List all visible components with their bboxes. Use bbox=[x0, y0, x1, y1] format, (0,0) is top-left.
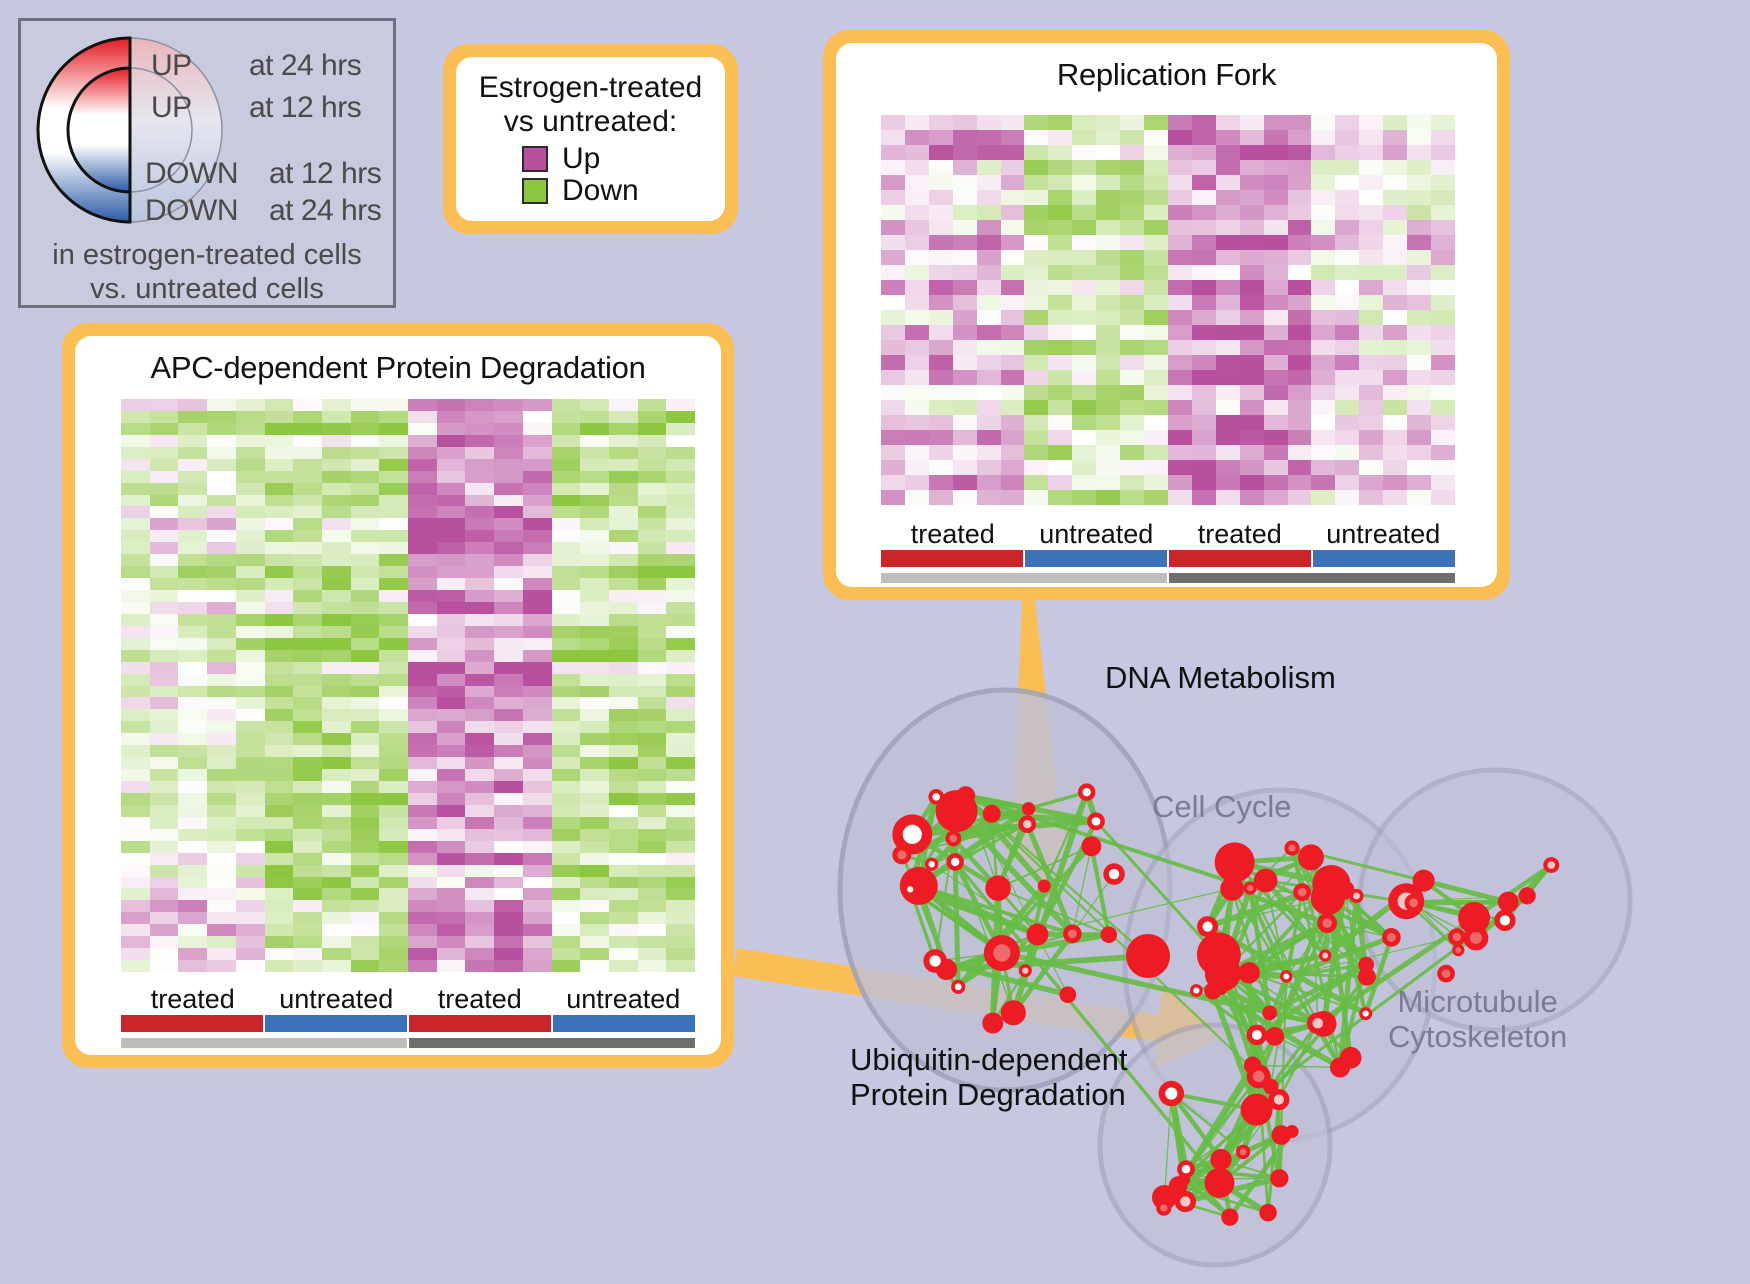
heat-cell bbox=[437, 614, 466, 626]
heat-cell bbox=[666, 733, 695, 745]
heat-cell bbox=[150, 447, 179, 459]
heat-cell bbox=[207, 614, 236, 626]
network-node[interactable] bbox=[1027, 924, 1049, 946]
heat-cell bbox=[1359, 205, 1383, 220]
heat-cell bbox=[580, 411, 609, 423]
heat-cell bbox=[523, 483, 552, 495]
heat-cell bbox=[236, 662, 265, 674]
heat-cell bbox=[638, 614, 667, 626]
heat-cell bbox=[881, 400, 905, 415]
heat-cell bbox=[150, 554, 179, 566]
heat-cell bbox=[379, 399, 408, 411]
heat-cell bbox=[379, 948, 408, 960]
heat-cell bbox=[523, 399, 552, 411]
heat-cell bbox=[1024, 235, 1048, 250]
heat-cell bbox=[437, 459, 466, 471]
heat-cell bbox=[1096, 460, 1120, 475]
heat-cell bbox=[905, 130, 929, 145]
heat-cell bbox=[1048, 460, 1072, 475]
heat-cell bbox=[609, 888, 638, 900]
heat-cell bbox=[236, 435, 265, 447]
heat-cell bbox=[1359, 265, 1383, 280]
heat-cell bbox=[1192, 340, 1216, 355]
heat-cell bbox=[1216, 265, 1240, 280]
treatment-bar-segment bbox=[881, 550, 1023, 567]
heat-cell bbox=[1192, 490, 1216, 505]
network-node[interactable] bbox=[1265, 1027, 1284, 1046]
heat-cell bbox=[236, 757, 265, 769]
heat-cell bbox=[609, 912, 638, 924]
heat-cell bbox=[121, 912, 150, 924]
heat-cell bbox=[150, 936, 179, 948]
heat-cell bbox=[379, 686, 408, 698]
heat-cell bbox=[465, 638, 494, 650]
heat-cell bbox=[638, 853, 667, 865]
heat-cell bbox=[1096, 130, 1120, 145]
heat-cell bbox=[638, 877, 667, 889]
heat-cell bbox=[207, 674, 236, 686]
heat-cell bbox=[1072, 295, 1096, 310]
heat-cell bbox=[351, 781, 380, 793]
heat-cell bbox=[552, 769, 581, 781]
network-node[interactable] bbox=[1262, 1005, 1277, 1020]
heat-cell bbox=[523, 924, 552, 936]
heat-cell bbox=[666, 602, 695, 614]
heat-cell bbox=[351, 936, 380, 948]
heat-cell bbox=[379, 793, 408, 805]
heat-cell bbox=[265, 626, 294, 638]
heat-cell bbox=[379, 829, 408, 841]
heat-cell bbox=[1407, 460, 1431, 475]
heat-cell bbox=[121, 948, 150, 960]
heat-cell bbox=[178, 805, 207, 817]
heat-cell bbox=[609, 447, 638, 459]
network-node[interactable] bbox=[1213, 980, 1229, 996]
heat-cell bbox=[265, 686, 294, 698]
heat-cell bbox=[207, 769, 236, 781]
heat-cell bbox=[666, 686, 695, 698]
heat-cell bbox=[494, 769, 523, 781]
heat-cell bbox=[150, 721, 179, 733]
heat-cell bbox=[265, 936, 294, 948]
heat-cell bbox=[265, 590, 294, 602]
heat-cell bbox=[523, 447, 552, 459]
heat-cell bbox=[465, 471, 494, 483]
heat-cell bbox=[322, 936, 351, 948]
heat-cell bbox=[437, 721, 466, 733]
heat-cell bbox=[1240, 310, 1264, 325]
network-node[interactable] bbox=[1215, 842, 1255, 882]
heat-cell bbox=[1431, 115, 1455, 130]
heat-cell bbox=[322, 554, 351, 566]
heat-cell bbox=[523, 495, 552, 507]
heat-cell bbox=[638, 805, 667, 817]
network-node[interactable] bbox=[1330, 1057, 1350, 1077]
heat-cell bbox=[1407, 235, 1431, 250]
treatment-bar-segment bbox=[409, 1015, 551, 1032]
network-node[interactable] bbox=[1241, 1094, 1273, 1126]
heat-cell bbox=[1383, 475, 1407, 490]
heat-cell bbox=[494, 578, 523, 590]
heat-cell bbox=[977, 235, 1001, 250]
network-node[interactable] bbox=[1022, 802, 1035, 815]
heat-cell bbox=[293, 554, 322, 566]
heat-cell bbox=[379, 566, 408, 578]
heat-cell bbox=[379, 745, 408, 757]
heat-cell bbox=[178, 566, 207, 578]
heat-cell bbox=[1001, 415, 1025, 430]
heat-cell bbox=[178, 399, 207, 411]
heat-cell bbox=[351, 805, 380, 817]
network-node[interactable] bbox=[1126, 934, 1170, 978]
heat-cell bbox=[408, 578, 437, 590]
heat-cell bbox=[609, 697, 638, 709]
heat-cell bbox=[1335, 235, 1359, 250]
heat-cell bbox=[666, 614, 695, 626]
heat-cell bbox=[1264, 145, 1288, 160]
heat-cell bbox=[1120, 400, 1144, 415]
heat-cell bbox=[609, 686, 638, 698]
heat-cell bbox=[121, 769, 150, 781]
heat-cell bbox=[236, 865, 265, 877]
network-node[interactable] bbox=[1038, 879, 1051, 892]
heat-cell bbox=[293, 853, 322, 865]
heat-cell bbox=[465, 423, 494, 435]
heat-cell bbox=[408, 411, 437, 423]
network-node-core bbox=[903, 825, 922, 844]
heat-cell bbox=[609, 829, 638, 841]
network-node[interactable] bbox=[1059, 986, 1076, 1003]
heat-cell bbox=[322, 662, 351, 674]
heat-cell bbox=[666, 769, 695, 781]
heat-cell bbox=[1192, 205, 1216, 220]
heat-cell bbox=[1048, 340, 1072, 355]
heat-cell bbox=[379, 459, 408, 471]
heat-cell bbox=[1096, 175, 1120, 190]
heat-cell bbox=[236, 650, 265, 662]
network-node[interactable] bbox=[1081, 836, 1101, 856]
heat-cell bbox=[150, 757, 179, 769]
heat-cell bbox=[1359, 115, 1383, 130]
heat-cell bbox=[437, 506, 466, 518]
heat-cell bbox=[379, 841, 408, 853]
heat-cell bbox=[609, 817, 638, 829]
heat-cell bbox=[494, 614, 523, 626]
heat-cell bbox=[1288, 355, 1312, 370]
heat-cell bbox=[609, 483, 638, 495]
heat-cell bbox=[408, 757, 437, 769]
heat-cell bbox=[1431, 130, 1455, 145]
network-node[interactable] bbox=[1519, 887, 1536, 904]
network-node[interactable] bbox=[1169, 1176, 1188, 1195]
network-node[interactable] bbox=[983, 805, 1001, 823]
heat-cell bbox=[953, 235, 977, 250]
apc-time-0: 12 hrs bbox=[121, 1052, 408, 1055]
heat-cell bbox=[1192, 145, 1216, 160]
heat-cell bbox=[929, 130, 953, 145]
heat-cell bbox=[1001, 160, 1025, 175]
heat-cell bbox=[408, 721, 437, 733]
heat-cell bbox=[1359, 445, 1383, 460]
heat-cell bbox=[322, 578, 351, 590]
heat-cell bbox=[609, 518, 638, 530]
heat-cell bbox=[465, 674, 494, 686]
network-node[interactable] bbox=[1413, 870, 1435, 892]
heat-cell bbox=[236, 530, 265, 542]
heat-cell bbox=[552, 423, 581, 435]
heat-cell bbox=[609, 662, 638, 674]
heat-cell bbox=[178, 793, 207, 805]
heat-cell bbox=[494, 924, 523, 936]
heat-cell bbox=[322, 674, 351, 686]
heat-cell bbox=[1335, 250, 1359, 265]
heat-cell bbox=[178, 709, 207, 721]
heat-cell bbox=[552, 459, 581, 471]
heat-cell bbox=[1072, 265, 1096, 280]
heat-cell bbox=[1288, 160, 1312, 175]
heat-cell bbox=[437, 697, 466, 709]
heat-cell bbox=[1048, 265, 1072, 280]
network-node[interactable] bbox=[1286, 1125, 1299, 1138]
network-node[interactable] bbox=[1221, 1209, 1238, 1226]
heat-cell bbox=[465, 888, 494, 900]
heat-cell bbox=[1144, 115, 1168, 130]
heat-cell bbox=[1001, 340, 1025, 355]
network-node[interactable] bbox=[1238, 962, 1260, 984]
heat-cell bbox=[1240, 265, 1264, 280]
heat-cell bbox=[207, 793, 236, 805]
heat-cell bbox=[236, 936, 265, 948]
heat-cell bbox=[351, 423, 380, 435]
heat-cell bbox=[1288, 415, 1312, 430]
network-node-core bbox=[1247, 885, 1253, 891]
network-node[interactable] bbox=[1498, 892, 1519, 913]
network-node[interactable] bbox=[1298, 844, 1324, 870]
heat-cell bbox=[351, 602, 380, 614]
heat-cell bbox=[293, 566, 322, 578]
heat-cell bbox=[465, 757, 494, 769]
heat-cell bbox=[580, 435, 609, 447]
heat-cell bbox=[121, 900, 150, 912]
heat-cell bbox=[236, 960, 265, 972]
heat-cell bbox=[494, 483, 523, 495]
heat-cell bbox=[881, 460, 905, 475]
heat-cell bbox=[236, 924, 265, 936]
heat-cell bbox=[178, 960, 207, 972]
heat-cell bbox=[1264, 115, 1288, 130]
heat-cell bbox=[638, 650, 667, 662]
heat-cell bbox=[666, 793, 695, 805]
heat-cell bbox=[1383, 430, 1407, 445]
heat-cell bbox=[1192, 460, 1216, 475]
heat-cell bbox=[178, 614, 207, 626]
heat-cell bbox=[408, 447, 437, 459]
network-node-core bbox=[1180, 1196, 1190, 1206]
network-node[interactable] bbox=[1254, 869, 1278, 893]
heat-cell bbox=[666, 757, 695, 769]
heat-cell bbox=[351, 793, 380, 805]
heat-cell bbox=[121, 757, 150, 769]
heat-cell bbox=[638, 542, 667, 554]
heat-cell bbox=[638, 578, 667, 590]
heat-cell bbox=[207, 542, 236, 554]
heat-cell bbox=[609, 841, 638, 853]
apc-group-labels: treated untreated treated untreated bbox=[121, 984, 695, 1015]
heat-cell bbox=[1216, 115, 1240, 130]
heat-cell bbox=[408, 793, 437, 805]
heat-cell bbox=[178, 483, 207, 495]
heat-cell bbox=[666, 721, 695, 733]
heat-cell bbox=[1096, 205, 1120, 220]
legend-title-line1: Estrogen-treated bbox=[466, 71, 715, 105]
heat-cell bbox=[1168, 310, 1192, 325]
network-node[interactable] bbox=[1210, 1149, 1231, 1170]
heat-cell bbox=[638, 757, 667, 769]
heat-cell bbox=[552, 781, 581, 793]
network-node[interactable] bbox=[1358, 968, 1376, 986]
heat-cell bbox=[1168, 490, 1192, 505]
heat-cell bbox=[1335, 400, 1359, 415]
heat-cell bbox=[1288, 250, 1312, 265]
heat-cell bbox=[1359, 430, 1383, 445]
network-node[interactable] bbox=[1100, 926, 1117, 943]
heat-cell bbox=[465, 709, 494, 721]
heat-cell bbox=[953, 280, 977, 295]
network-node[interactable] bbox=[956, 786, 975, 805]
network-node[interactable] bbox=[1001, 1000, 1026, 1025]
heat-cell bbox=[929, 205, 953, 220]
heat-cell bbox=[351, 865, 380, 877]
heat-cell bbox=[881, 265, 905, 280]
heat-cell bbox=[929, 265, 953, 280]
heat-cell bbox=[437, 530, 466, 542]
heat-cell bbox=[609, 924, 638, 936]
heat-cell bbox=[881, 445, 905, 460]
heat-cell bbox=[1096, 490, 1120, 505]
heat-cell bbox=[1407, 445, 1431, 460]
heat-cell bbox=[437, 924, 466, 936]
heat-cell bbox=[236, 578, 265, 590]
heat-cell bbox=[1001, 130, 1025, 145]
heat-cell bbox=[977, 265, 1001, 280]
heat-cell bbox=[523, 674, 552, 686]
heat-cell bbox=[929, 190, 953, 205]
heat-cell bbox=[609, 948, 638, 960]
heat-cell bbox=[465, 483, 494, 495]
heat-cell bbox=[609, 650, 638, 662]
heat-cell bbox=[1072, 250, 1096, 265]
heat-cell bbox=[552, 626, 581, 638]
heat-cell bbox=[1048, 250, 1072, 265]
heat-cell bbox=[265, 650, 294, 662]
heat-cell bbox=[905, 445, 929, 460]
heat-cell bbox=[1120, 130, 1144, 145]
heat-cell bbox=[351, 626, 380, 638]
heat-cell bbox=[609, 936, 638, 948]
heat-cell bbox=[351, 447, 380, 459]
heat-cell bbox=[609, 614, 638, 626]
heat-cell bbox=[666, 554, 695, 566]
heat-cell bbox=[609, 745, 638, 757]
heat-cell bbox=[666, 650, 695, 662]
heat-cell bbox=[523, 518, 552, 530]
heat-cell bbox=[150, 912, 179, 924]
network-node-core bbox=[932, 793, 939, 800]
heat-cell bbox=[121, 506, 150, 518]
heat-cell bbox=[150, 471, 179, 483]
heat-cell bbox=[437, 578, 466, 590]
heat-cell bbox=[236, 793, 265, 805]
network-node[interactable] bbox=[1204, 1168, 1234, 1198]
heat-cell bbox=[1120, 190, 1144, 205]
heat-cell bbox=[236, 411, 265, 423]
heat-cell bbox=[1264, 430, 1288, 445]
heat-cell bbox=[1407, 355, 1431, 370]
network-node[interactable] bbox=[1259, 1204, 1277, 1222]
heat-cell bbox=[881, 295, 905, 310]
heat-cell bbox=[905, 400, 929, 415]
heat-cell bbox=[977, 400, 1001, 415]
heat-cell bbox=[580, 829, 609, 841]
heat-cell bbox=[1264, 250, 1288, 265]
heat-cell bbox=[1311, 325, 1335, 340]
heat-cell bbox=[609, 900, 638, 912]
heat-cell bbox=[609, 578, 638, 590]
heat-cell bbox=[1311, 355, 1335, 370]
heat-cell bbox=[265, 733, 294, 745]
network-node[interactable] bbox=[982, 1013, 1003, 1034]
network-node[interactable] bbox=[1270, 1169, 1288, 1187]
heat-cell bbox=[293, 459, 322, 471]
heat-cell bbox=[1359, 220, 1383, 235]
heat-cell bbox=[580, 817, 609, 829]
heat-cell bbox=[437, 960, 466, 972]
heat-cell bbox=[236, 912, 265, 924]
network-node[interactable] bbox=[1220, 877, 1244, 901]
heat-cell bbox=[1096, 445, 1120, 460]
heat-cell bbox=[351, 769, 380, 781]
heat-cell bbox=[905, 175, 929, 190]
heat-cell bbox=[207, 805, 236, 817]
heat-cell bbox=[351, 817, 380, 829]
heat-cell bbox=[1120, 115, 1144, 130]
heat-cell bbox=[1240, 430, 1264, 445]
key-state-2: DOWN bbox=[145, 157, 238, 191]
heat-cell bbox=[1383, 340, 1407, 355]
heat-cell bbox=[552, 936, 581, 948]
heat-cell bbox=[1407, 205, 1431, 220]
heat-cell bbox=[1288, 205, 1312, 220]
heat-cell bbox=[1264, 310, 1288, 325]
heat-cell bbox=[121, 805, 150, 817]
network-node[interactable] bbox=[985, 875, 1011, 901]
network-node-core bbox=[1353, 893, 1360, 900]
heat-cell bbox=[1335, 415, 1359, 430]
apc-title: APC-dependent Protein Degradation bbox=[75, 336, 721, 386]
heat-cell bbox=[408, 423, 437, 435]
heat-cell bbox=[1001, 475, 1025, 490]
heat-cell bbox=[437, 626, 466, 638]
heat-cell bbox=[121, 793, 150, 805]
heat-cell bbox=[494, 530, 523, 542]
heat-cell bbox=[1288, 175, 1312, 190]
heat-cell bbox=[638, 960, 667, 972]
heat-cell bbox=[494, 829, 523, 841]
heat-cell bbox=[379, 912, 408, 924]
heat-cell bbox=[494, 674, 523, 686]
heat-cell bbox=[552, 495, 581, 507]
heat-cell bbox=[293, 805, 322, 817]
